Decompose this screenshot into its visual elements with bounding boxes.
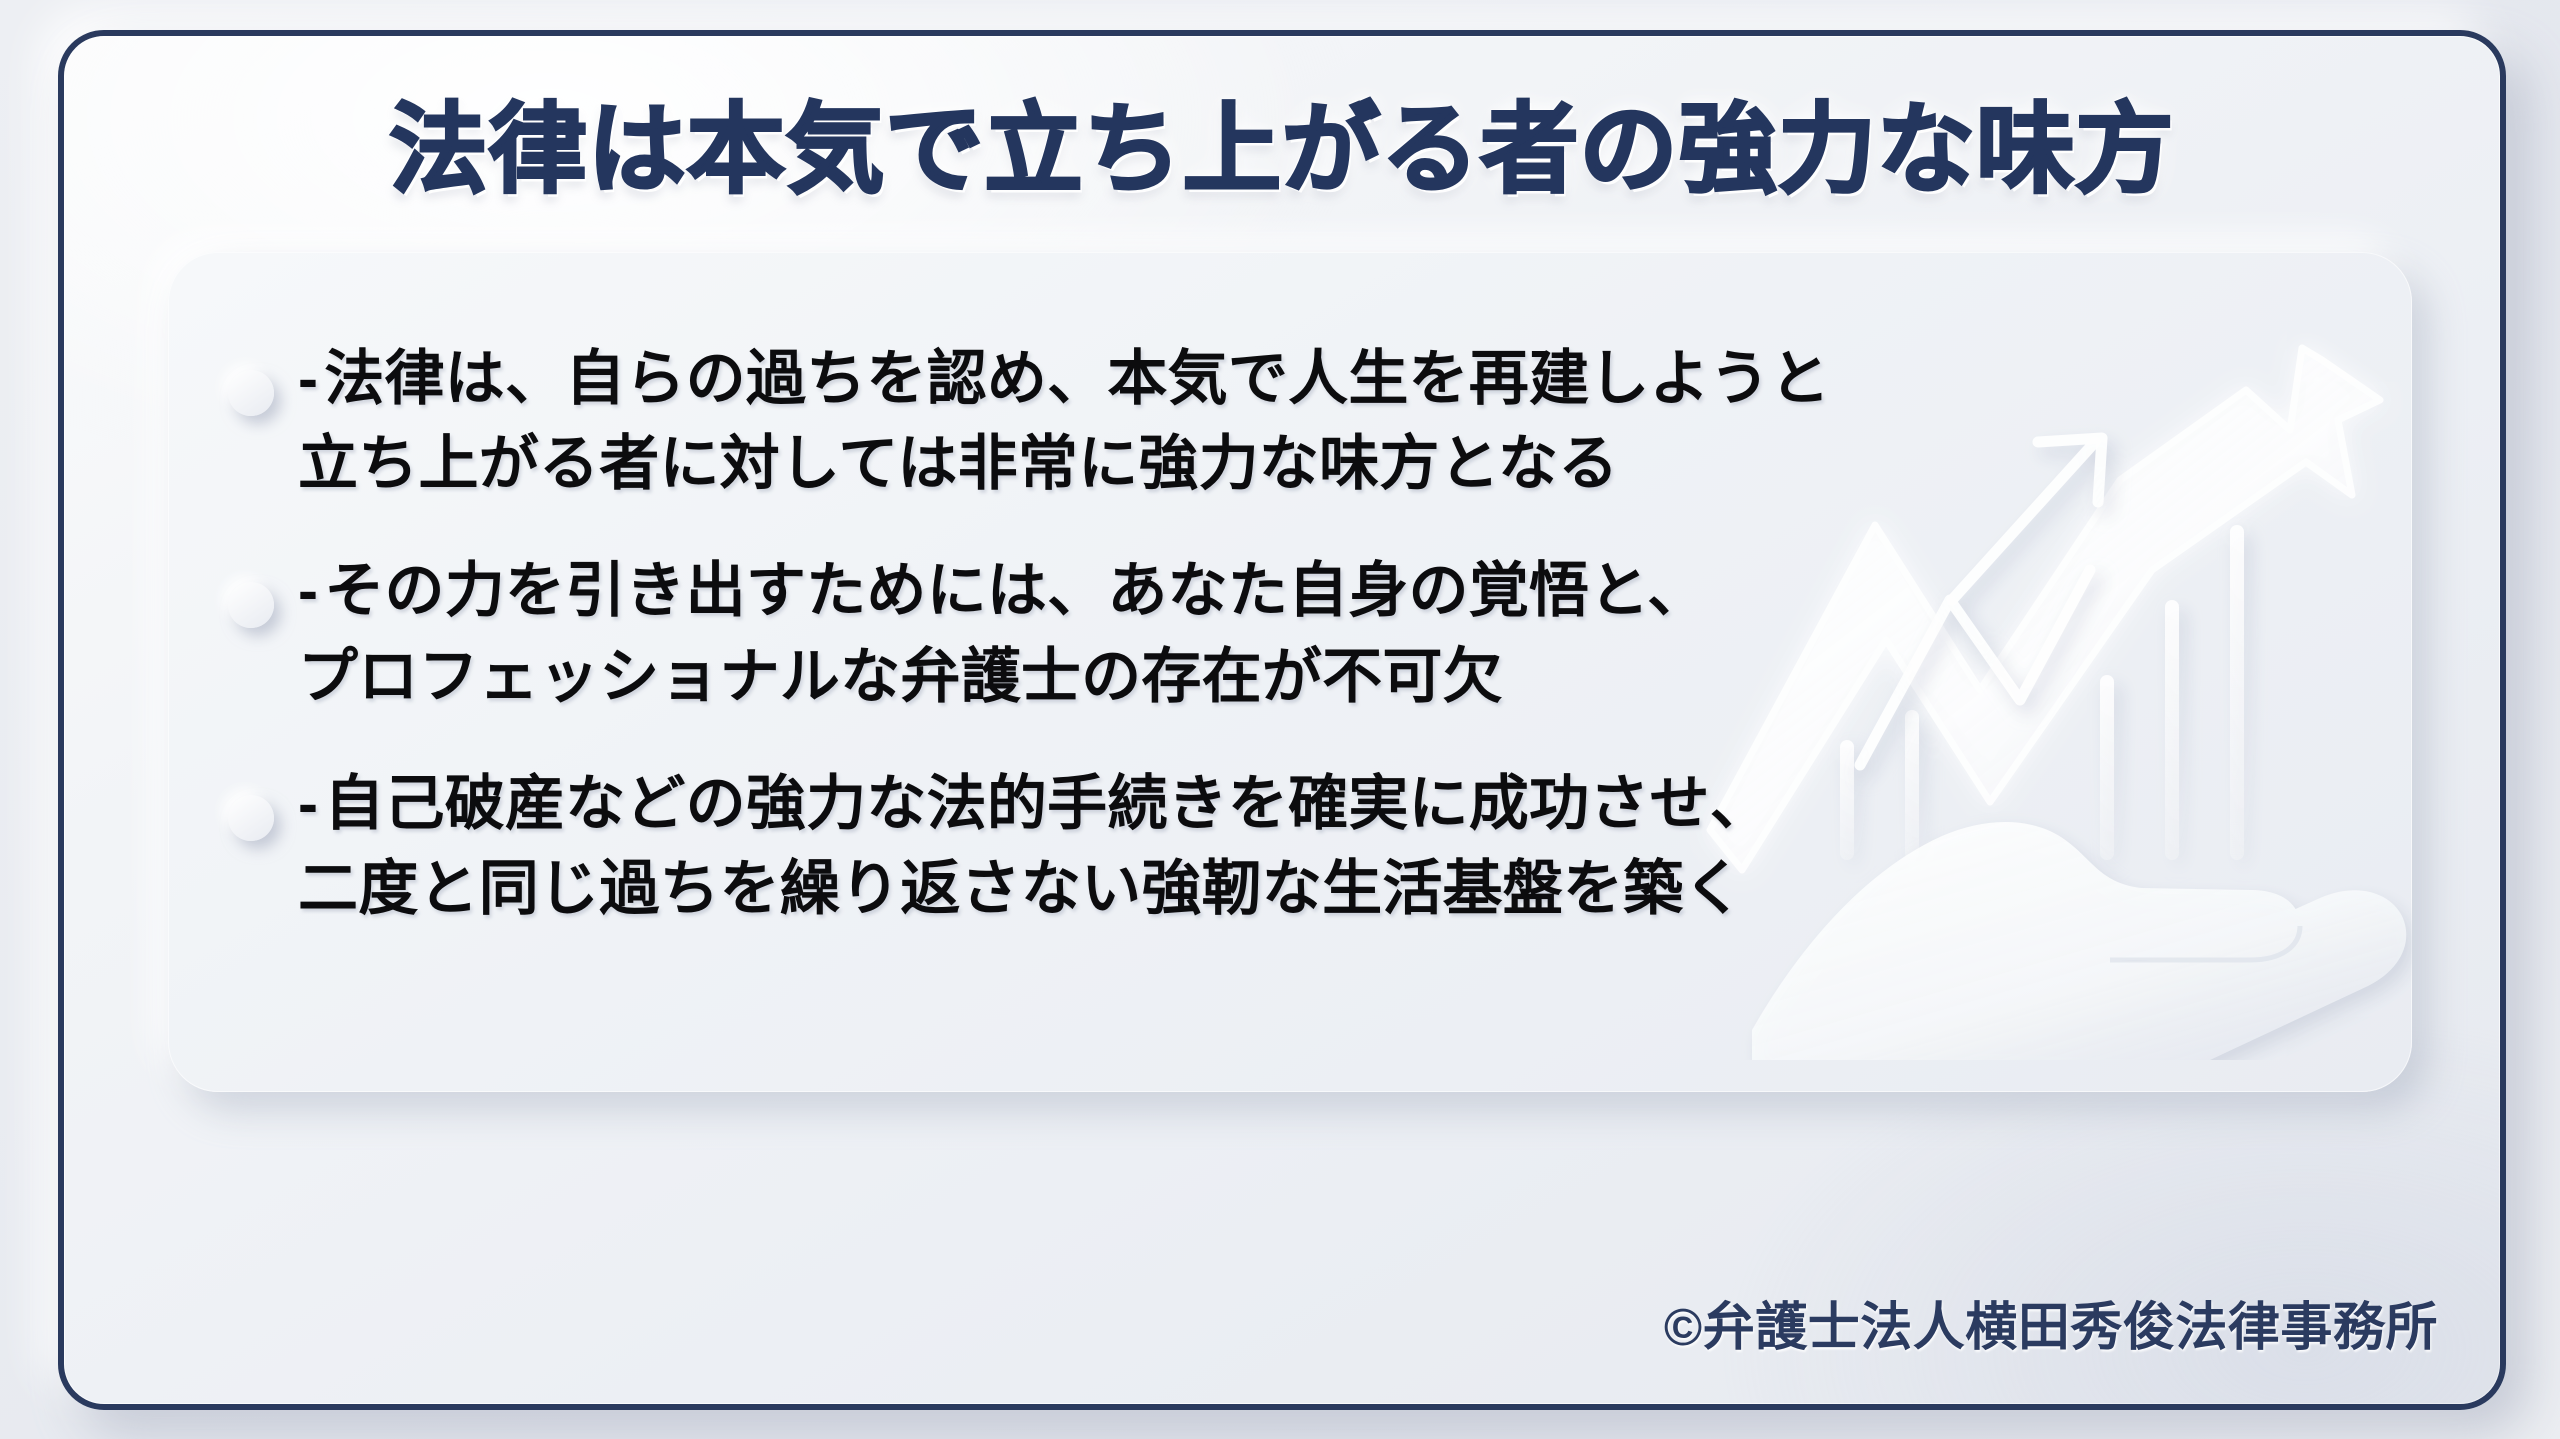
list-item-text: -法律は、自らの過ちを認め、本気で人生を再建しようと 立ち上がる者に対しては非常… (298, 336, 1830, 506)
bullet-dot-icon (228, 370, 274, 416)
bullet-list: -法律は、自らの過ちを認め、本気で人生を再建しようと 立ち上がる者に対しては非常… (168, 252, 2412, 1092)
list-item: -法律は、自らの過ちを認め、本気で人生を再建しようと 立ち上がる者に対しては非常… (168, 336, 2412, 506)
list-item-text: -自己破産などの強力な法的手続きを確実に成功させ、 二度と同じ過ちを繰り返さない… (298, 761, 1770, 931)
list-item-body: 自己破産などの強力な法的手続きを確実に成功させ、 二度と同じ過ちを繰り返さない強… (298, 770, 1770, 922)
list-item-marker: - (298, 557, 318, 624)
list-item: -その力を引き出すためには、あなた自身の覚悟と、 プロフェッショナルな弁護士の存… (168, 548, 2412, 718)
content-panel: -法律は、自らの過ちを認め、本気で人生を再建しようと 立ち上がる者に対しては非常… (168, 252, 2412, 1092)
list-item-body: その力を引き出すためには、あなた自身の覚悟と、 プロフェッショナルな弁護士の存在… (298, 557, 1707, 709)
list-item-marker: - (298, 770, 318, 837)
list-item-marker: - (298, 345, 318, 412)
page-title: 法律は本気で立ち上がる者の強力な味方 (389, 98, 2174, 202)
footer-copyright: ©弁護士法人横田秀俊法律事務所 (1664, 1285, 2438, 1360)
bullet-dot-icon (228, 795, 274, 841)
slide-card: 法律は本気で立ち上がる者の強力な味方 (58, 30, 2506, 1410)
list-item-text: -その力を引き出すためには、あなた自身の覚悟と、 プロフェッショナルな弁護士の存… (298, 548, 1707, 718)
list-item-body: 法律は、自らの過ちを認め、本気で人生を再建しようと 立ち上がる者に対しては非常に… (298, 345, 1830, 497)
list-item: -自己破産などの強力な法的手続きを確実に成功させ、 二度と同じ過ちを繰り返さない… (168, 761, 2412, 931)
bullet-dot-icon (228, 582, 274, 628)
slide-title-container: 法律は本気で立ち上がる者の強力な味方 (64, 98, 2500, 202)
